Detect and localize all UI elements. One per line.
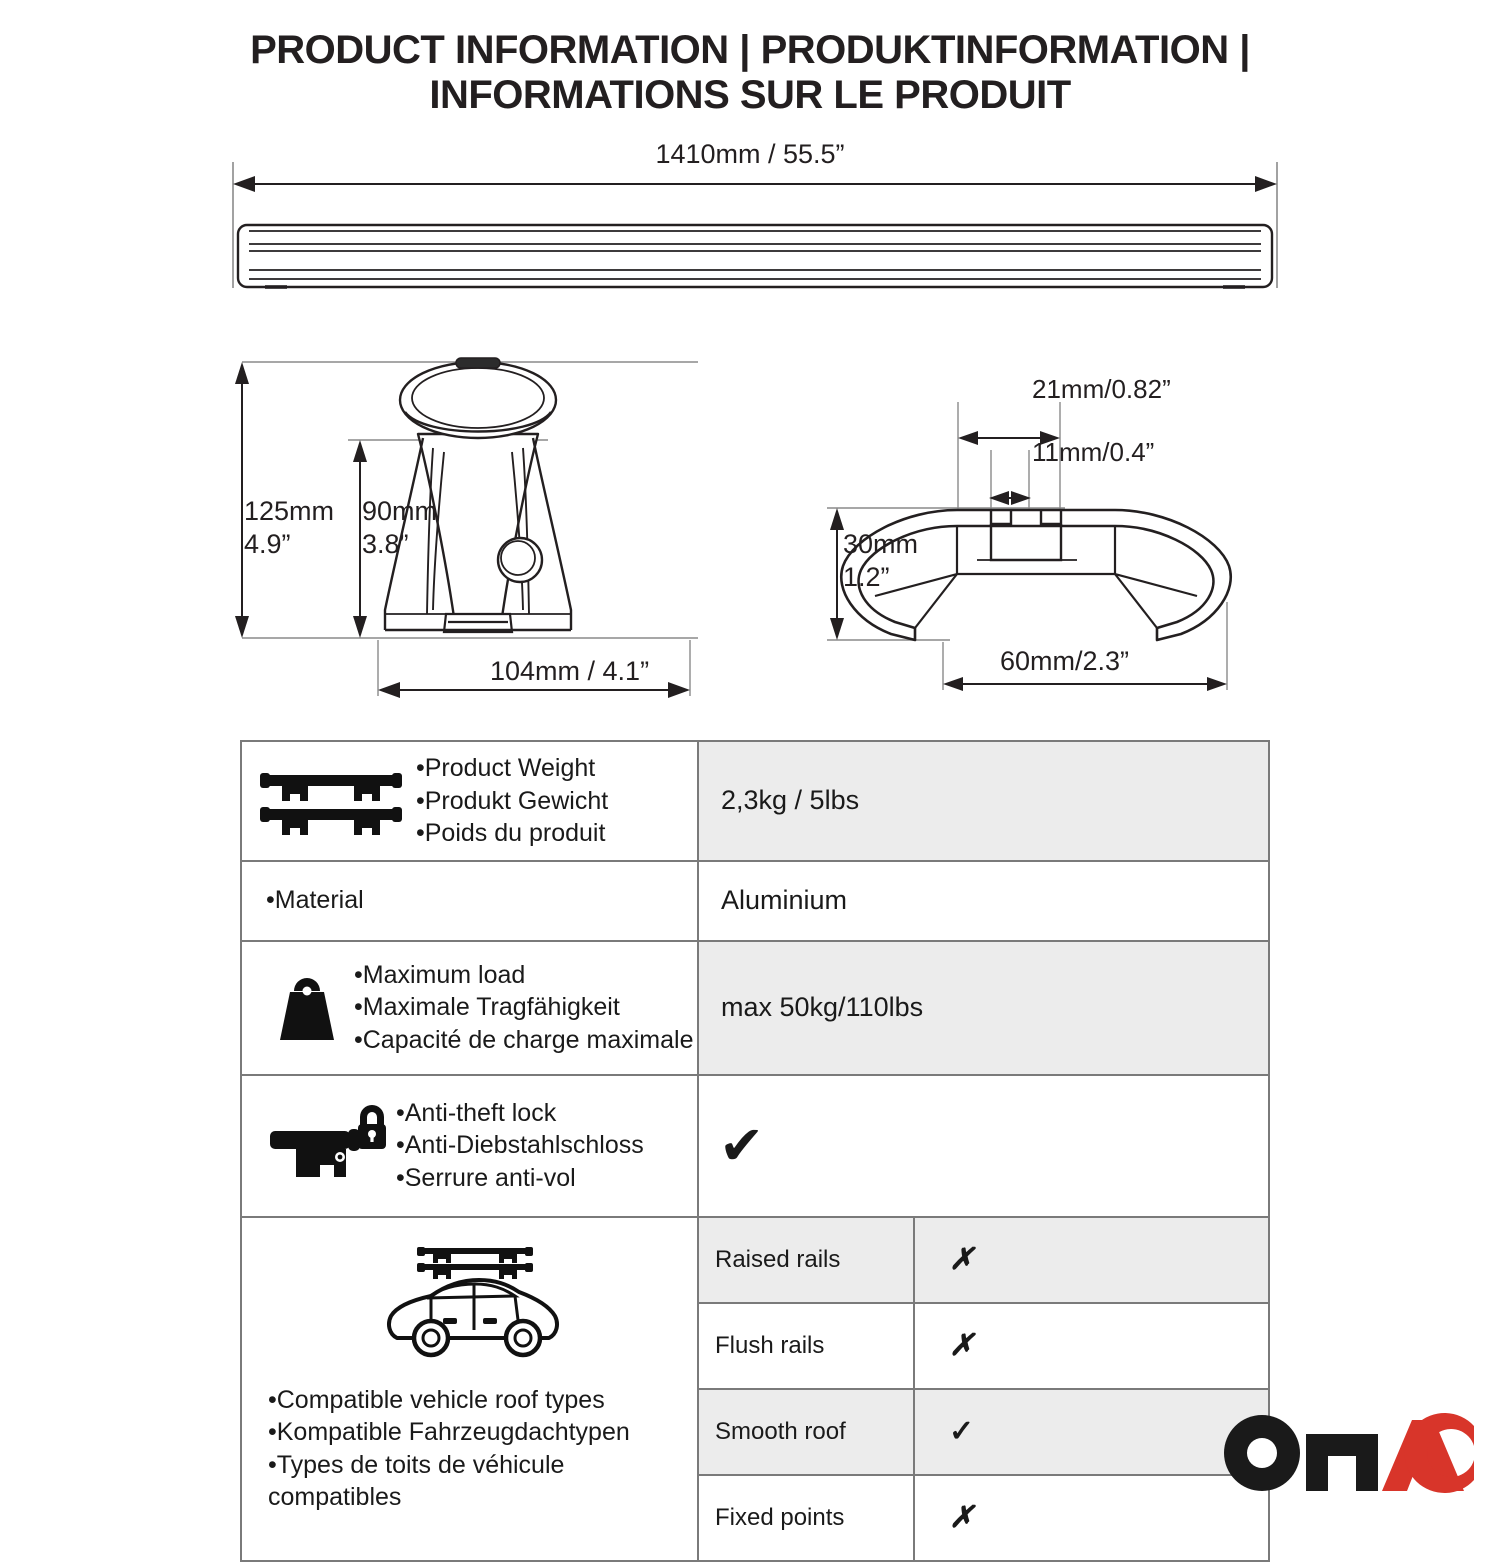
table-row: •Compatible vehicle roof types •Kompatib… — [241, 1217, 1269, 1561]
profile-top-width-label: 21mm/0.82” — [1032, 374, 1171, 406]
label-de: •Produkt Gewicht — [416, 785, 608, 818]
table-row: •Material Aluminium — [241, 861, 1269, 941]
cross-icon: ✗ — [931, 1501, 974, 1534]
foot-width-label: 104mm / 4.1” — [490, 655, 649, 688]
table-row: •Anti-theft lock •Anti-Diebstahlschloss … — [241, 1075, 1269, 1217]
label-en: •Product Weight — [416, 752, 608, 785]
row-label-cell: •Product Weight •Produkt Gewicht •Poids … — [241, 741, 698, 861]
title-line-2: INFORMATIONS SUR LE PRODUIT — [0, 73, 1500, 118]
roof-types-cell: Raised rails ✗ Flush rails ✗ — [698, 1217, 1269, 1561]
label-fr: •Capacité de charge maximale — [354, 1024, 693, 1057]
label-en: •Maximum load — [354, 959, 693, 992]
lock-icon — [256, 1105, 386, 1187]
crossbars-icon — [256, 765, 406, 837]
roof-type-row: Flush rails ✗ — [699, 1303, 1268, 1389]
roof-type-row: Fixed points ✗ — [699, 1475, 1268, 1560]
row-value-cell: max 50kg/110lbs — [698, 941, 1269, 1075]
label-fr-cont: compatibles — [268, 1481, 630, 1514]
profile-height-label: 30mm 1.2” — [843, 528, 918, 594]
roof-type-name: Raised rails — [699, 1218, 914, 1303]
profile-width-label: 60mm/2.3” — [1000, 645, 1129, 678]
label-de: •Maximale Tragfähigkeit — [354, 991, 693, 1024]
label-fr: •Poids du produit — [416, 817, 608, 850]
foot-total-height-label: 125mm 4.9” — [244, 495, 334, 561]
foot-inner-height-label: 90mm 3.8” — [362, 495, 437, 561]
row-label-cell: •Anti-theft lock •Anti-Diebstahlschloss … — [241, 1075, 698, 1217]
check-icon: ✓ — [931, 1415, 974, 1448]
roof-type-row: Smooth roof ✓ — [699, 1389, 1268, 1475]
row-label-cell: •Compatible vehicle roof types •Kompatib… — [241, 1217, 698, 1561]
omac-logo — [1222, 1412, 1474, 1494]
table-row: •Maximum load •Maximale Tragfähigkeit •C… — [241, 941, 1269, 1075]
row-label-cell: •Material — [241, 861, 698, 941]
label-material: •Material — [266, 884, 364, 917]
product-weight-value: 2,3kg / 5lbs — [699, 785, 1268, 816]
roof-type-name: Smooth roof — [699, 1389, 914, 1475]
label-fr: •Types de toits de véhicule — [268, 1449, 630, 1482]
roof-type-mark: ✗ — [914, 1218, 1268, 1303]
roof-types-table: Raised rails ✗ Flush rails ✗ — [699, 1218, 1268, 1560]
product-information-sheet: PRODUCT INFORMATION | PRODUKTINFORMATION… — [0, 0, 1500, 1500]
row-value-cell: ✔ — [698, 1075, 1269, 1217]
table-row: •Product Weight •Produkt Gewicht •Poids … — [241, 741, 1269, 861]
weight-icon — [256, 972, 344, 1044]
cross-icon: ✗ — [931, 1329, 974, 1362]
crossbar-length-drawing — [225, 160, 1285, 310]
row-label-list: •Compatible vehicle roof types •Kompatib… — [256, 1384, 630, 1514]
row-value-cell: Aluminium — [698, 861, 1269, 941]
cross-icon: ✗ — [931, 1243, 974, 1276]
specification-table: •Product Weight •Produkt Gewicht •Poids … — [240, 740, 1270, 1562]
roof-type-name: Fixed points — [699, 1475, 914, 1560]
car-with-rack-icon — [379, 1242, 569, 1362]
label-de: •Anti-Diebstahlschloss — [396, 1129, 644, 1162]
label-en: •Anti-theft lock — [396, 1097, 644, 1130]
material-value: Aluminium — [699, 885, 1268, 916]
roof-type-mark: ✗ — [914, 1475, 1268, 1560]
label-en: •Compatible vehicle roof types — [268, 1384, 630, 1417]
label-fr: •Serrure anti-vol — [396, 1162, 644, 1195]
row-label-list: •Anti-theft lock •Anti-Diebstahlschloss … — [386, 1097, 644, 1195]
max-load-value: max 50kg/110lbs — [699, 992, 1268, 1023]
roof-type-row: Raised rails ✗ — [699, 1218, 1268, 1303]
roof-type-mark: ✓ — [914, 1389, 1268, 1475]
profile-slot-width-label: 11mm/0.4” — [1032, 437, 1154, 469]
row-label-list: •Material — [256, 884, 364, 917]
row-label-list: •Maximum load •Maximale Tragfähigkeit •C… — [344, 959, 693, 1057]
title-line-1: PRODUCT INFORMATION | PRODUKTINFORMATION… — [250, 28, 1250, 72]
label-de: •Kompatible Fahrzeugdachtypen — [268, 1416, 630, 1449]
roof-type-name: Flush rails — [699, 1303, 914, 1389]
row-label-list: •Product Weight •Produkt Gewicht •Poids … — [406, 752, 608, 850]
page-title: PRODUCT INFORMATION | PRODUKTINFORMATION… — [0, 28, 1500, 118]
anti-theft-check: ✔ — [699, 1119, 1268, 1173]
row-label-cell: •Maximum load •Maximale Tragfähigkeit •C… — [241, 941, 698, 1075]
row-value-cell: 2,3kg / 5lbs — [698, 741, 1269, 861]
roof-type-mark: ✗ — [914, 1303, 1268, 1389]
